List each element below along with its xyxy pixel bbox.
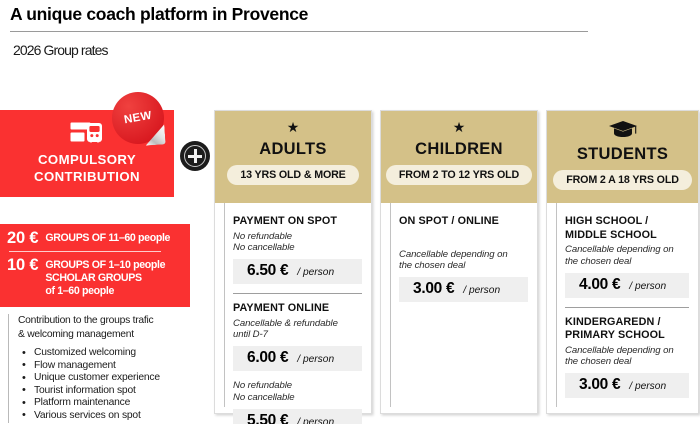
age-range-badge: FROM 2 TO 12 YRS OLD xyxy=(386,165,532,185)
plan-note-line2: the chosen deal xyxy=(565,356,689,368)
price-value: 6.50 € xyxy=(247,262,288,280)
plan-note: Cancellable depending on the chosen deal xyxy=(565,345,689,369)
price-box: 4.00 € / person xyxy=(565,273,689,298)
new-badge: NEW xyxy=(112,92,164,144)
page-subtitle: 2026 Group rates xyxy=(13,42,108,58)
plan-note: No refundable No cancellable xyxy=(233,231,362,255)
plan-separator xyxy=(565,307,689,308)
price-unit: / person xyxy=(463,285,500,296)
plan-note-line2: the chosen deal xyxy=(399,260,528,272)
rate-amount: 10 € xyxy=(7,255,38,276)
card-body-students: HIGH SCHOOL / MIDDLE SCHOOL Cancellable … xyxy=(547,203,698,413)
age-range-badge: 13 YRS OLD & MORE xyxy=(227,165,358,185)
plan-note: Cancellable depending on the chosen deal xyxy=(565,244,689,268)
price-box: 3.00 € / person xyxy=(399,277,528,302)
list-item: Tourist information spot xyxy=(18,385,208,398)
price-unit: / person xyxy=(297,267,334,278)
list-item: Various services on spot xyxy=(18,410,208,423)
contribution-note-line1: Contribution to the groups trafic xyxy=(18,314,208,328)
card-header-adults: ★ ADULTS 13 YRS OLD & MORE xyxy=(215,111,371,203)
pricing-card-adults: ★ ADULTS 13 YRS OLD & MORE PAYMENT ON SP… xyxy=(214,110,372,414)
plan-name-line1: KINDERGAREDN / xyxy=(565,316,689,330)
plan-note-line1: Cancellable depending on xyxy=(565,345,689,357)
card-title: CHILDREN xyxy=(381,139,537,159)
price-value: 5.50 € xyxy=(247,412,288,424)
price-unit: / person xyxy=(629,381,666,392)
price-unit: / person xyxy=(629,281,666,292)
list-item: Customized welcoming xyxy=(18,347,208,360)
plan-note-line1: Cancellable depending on xyxy=(565,244,689,256)
plan-note: Cancellable & refundable until D-7 xyxy=(233,318,362,342)
price-box: 3.00 € / person xyxy=(565,373,689,398)
rate-description-line1: GROUPS OF 1–10 people xyxy=(45,259,165,272)
rate-description: GROUPS OF 11–60 people xyxy=(45,228,170,245)
compulsory-title-line1: COMPULSORY xyxy=(0,151,174,168)
plan-note-line2: the chosen deal xyxy=(565,256,689,268)
pricing-card-students: STUDENTS FROM 2 A 18 YRS OLD HIGH SCHOOL… xyxy=(546,110,699,414)
list-item: Flow management xyxy=(18,360,208,373)
rate-description-line2: SCHOLAR GROUPS xyxy=(45,272,165,285)
plan-name-line2: MIDDLE SCHOOL xyxy=(565,229,689,243)
compulsory-title: COMPULSORY CONTRIBUTION xyxy=(0,151,174,185)
contribution-benefits-list: Customized welcoming Flow management Uni… xyxy=(18,347,208,423)
price-value: 3.00 € xyxy=(413,280,454,298)
page-title: A unique coach platform in Provence xyxy=(10,4,308,25)
list-item: Unique customer experience xyxy=(18,372,208,385)
graduation-cap-icon xyxy=(547,120,698,142)
plan-name-line2: PRIMARY SCHOOL xyxy=(565,329,689,343)
contribution-note-line2: & welcoming management xyxy=(18,328,208,342)
card-body-children: ON SPOT / ONLINE Cancellable depending o… xyxy=(381,203,537,413)
age-range-badge: FROM 2 A 18 YRS OLD xyxy=(553,170,692,190)
plan-note-line1: No refundable xyxy=(233,231,362,243)
star-icon: ★ xyxy=(381,120,537,137)
card-title: ADULTS xyxy=(215,139,371,159)
plan-name: KINDERGAREDN / PRIMARY SCHOOL xyxy=(565,316,689,343)
contribution-rate-row: 20 € GROUPS OF 11–60 people xyxy=(7,228,182,249)
plan-note: Cancellable depending on the chosen deal xyxy=(399,249,528,273)
list-item: Platform maintenance xyxy=(18,397,208,410)
rate-description: GROUPS OF 1–10 people SCHOLAR GROUPS of … xyxy=(45,255,165,299)
plan-name: ON SPOT / ONLINE xyxy=(399,215,528,229)
plan-payment-online-nonrefundable: No refundable No cancellable 5.50 € / pe… xyxy=(224,380,362,424)
ticket-train-icon xyxy=(70,121,104,148)
price-unit: / person xyxy=(297,417,334,424)
plan-high-middle-school: HIGH SCHOOL / MIDDLE SCHOOL Cancellable … xyxy=(556,215,689,298)
pricing-card-children: ★ CHILDREN FROM 2 TO 12 YRS OLD ON SPOT … xyxy=(380,110,538,414)
spacer xyxy=(224,371,362,378)
price-unit: / person xyxy=(297,354,334,365)
plan-note-line2: No cancellable xyxy=(233,392,362,404)
card-title: STUDENTS xyxy=(547,144,698,164)
card-body-adults: PAYMENT ON SPOT No refundable No cancell… xyxy=(215,203,371,413)
spacer xyxy=(399,229,528,247)
contribution-rate-row: 10 € GROUPS OF 1–10 people SCHOLAR GROUP… xyxy=(7,255,182,299)
plan-on-spot-online: ON SPOT / ONLINE Cancellable depending o… xyxy=(390,215,528,302)
compulsory-title-line2: CONTRIBUTION xyxy=(0,168,174,185)
star-icon: ★ xyxy=(215,120,371,137)
contribution-rates: 20 € GROUPS OF 11–60 people 10 € GROUPS … xyxy=(0,224,190,307)
price-value: 4.00 € xyxy=(579,276,620,294)
card-header-children: ★ CHILDREN FROM 2 TO 12 YRS OLD xyxy=(381,111,537,203)
contribution-details: Contribution to the groups trafic & welc… xyxy=(8,314,208,423)
plan-note-line1: Cancellable & refundable xyxy=(233,318,362,330)
plus-icon-ring xyxy=(184,145,206,167)
plan-note-line2: until D-7 xyxy=(233,329,362,341)
plan-note: No refundable No cancellable xyxy=(233,380,362,404)
plan-separator xyxy=(233,293,362,294)
plan-name: HIGH SCHOOL / MIDDLE SCHOOL xyxy=(565,215,689,242)
title-divider xyxy=(10,31,588,32)
plan-name: PAYMENT ON SPOT xyxy=(233,215,362,229)
plan-payment-on-spot: PAYMENT ON SPOT No refundable No cancell… xyxy=(224,215,362,284)
card-header-students: STUDENTS FROM 2 A 18 YRS OLD xyxy=(547,111,698,203)
plan-note-line1: Cancellable depending on xyxy=(399,249,528,261)
rate-description-line3: of 1–60 people xyxy=(45,285,165,298)
price-value: 6.00 € xyxy=(247,349,288,367)
pricing-infographic: A unique coach platform in Provence 2026… xyxy=(0,0,700,424)
contribution-note: Contribution to the groups trafic & welc… xyxy=(18,314,208,341)
rate-divider xyxy=(9,251,161,252)
price-box: 5.50 € / person xyxy=(233,409,362,424)
plan-kindergarten-primary-school: KINDERGAREDN / PRIMARY SCHOOL Cancellabl… xyxy=(556,316,689,399)
new-badge-label: NEW xyxy=(108,88,168,148)
plus-icon xyxy=(180,141,210,171)
plan-name-line1: HIGH SCHOOL / xyxy=(565,215,689,229)
rate-amount: 20 € xyxy=(7,228,38,249)
plan-note-line1: No refundable xyxy=(233,380,362,392)
price-value: 3.00 € xyxy=(579,376,620,394)
plan-payment-online: PAYMENT ONLINE Cancellable & refundable … xyxy=(224,302,362,371)
price-box: 6.50 € / person xyxy=(233,259,362,284)
price-box: 6.00 € / person xyxy=(233,346,362,371)
plan-name: PAYMENT ONLINE xyxy=(233,302,362,316)
plan-note-line2: No cancellable xyxy=(233,242,362,254)
